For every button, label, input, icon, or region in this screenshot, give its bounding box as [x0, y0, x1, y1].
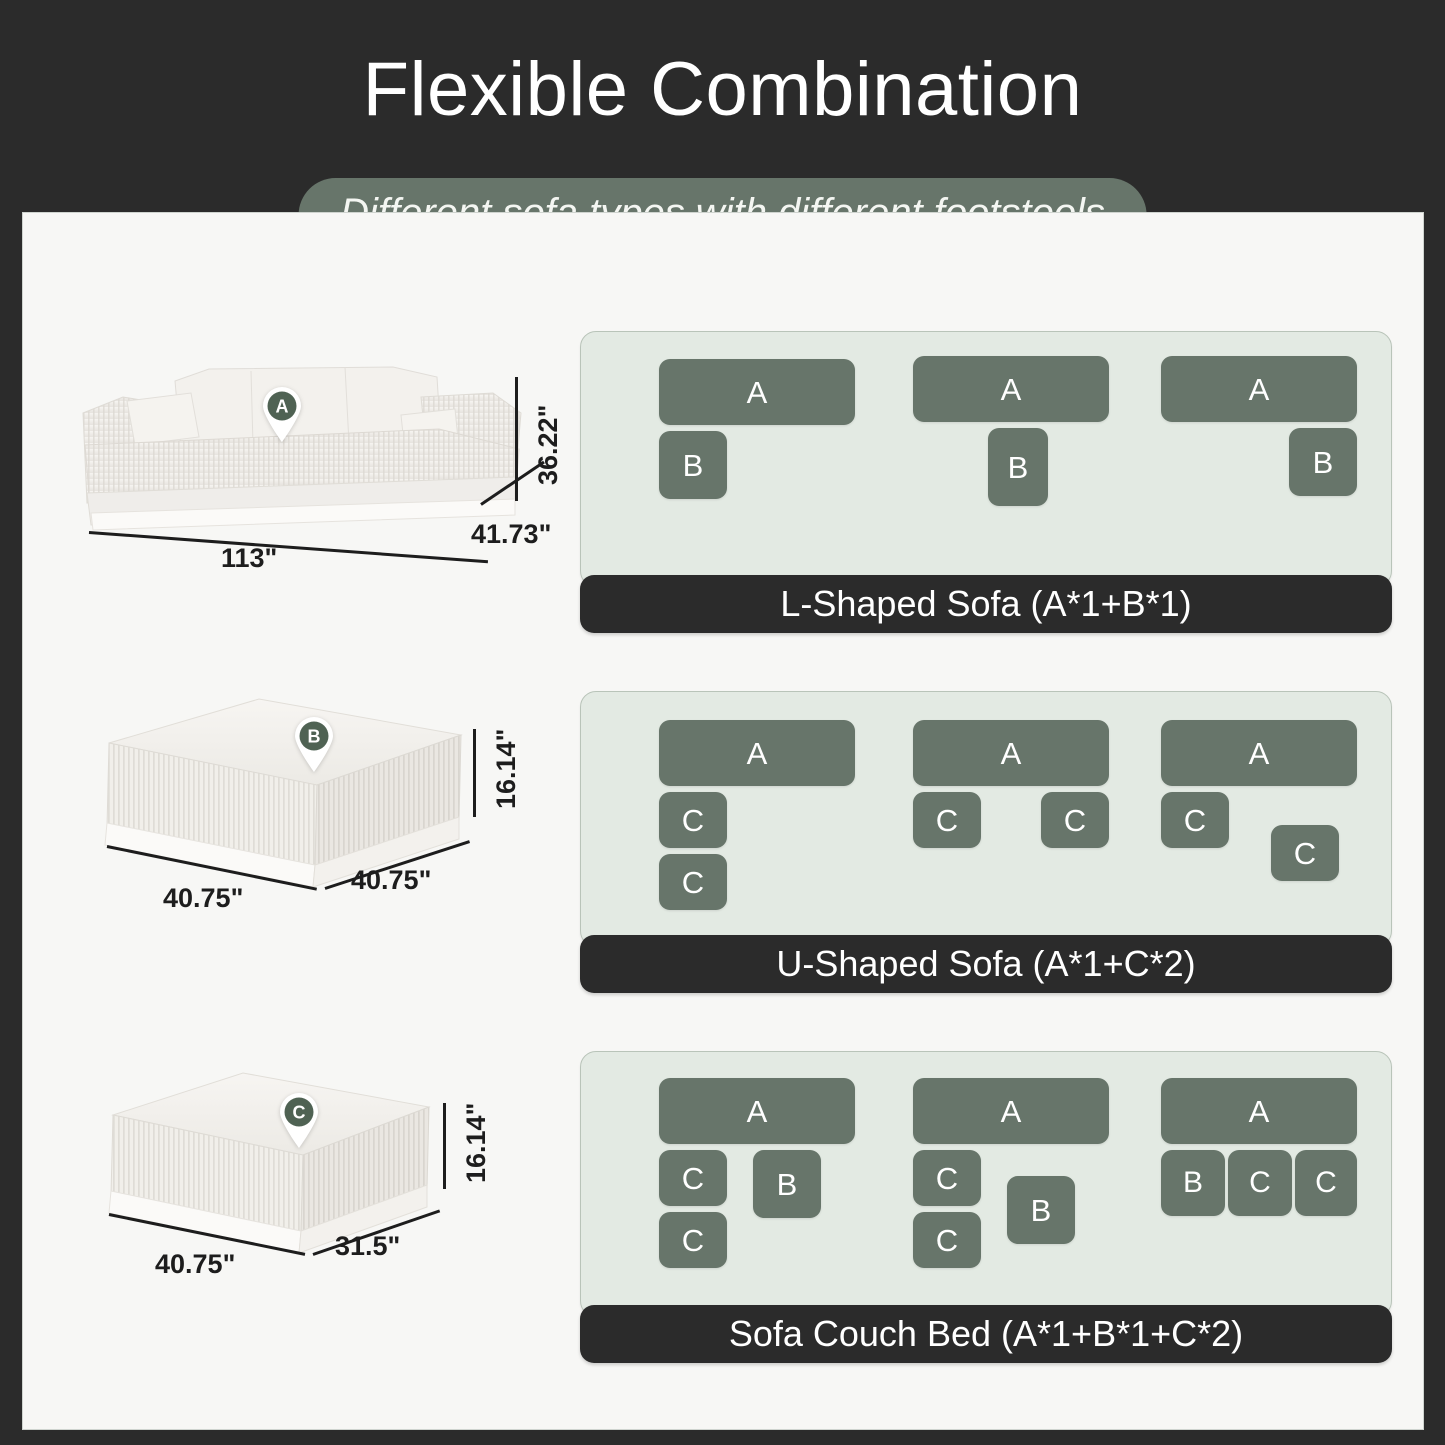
pin-badge-a: A [259, 385, 305, 443]
panel-sofa-couch-bed-caption-bar: Sofa Couch Bed (A*1+B*1+C*2) [580, 1305, 1392, 1363]
dim-rule-height-b [473, 729, 476, 817]
panel-sofa-couch-bed-body: A C C B A C C B A B C C [580, 1051, 1392, 1317]
svg-text:A: A [276, 397, 289, 417]
product-a-illustration: A 113" 41.73" 36.22" [63, 353, 573, 583]
block-c: C [913, 1212, 981, 1268]
block-c: C [913, 1150, 981, 1206]
dim-width-c: 40.75" [155, 1249, 235, 1280]
product-b-illustration: B 40.75" 40.75" 16.14" [63, 693, 573, 933]
block-c: C [913, 792, 981, 848]
panel-u-shaped-body: A C C A C C A C C [580, 691, 1392, 947]
dim-height-b: 16.14" [491, 729, 522, 809]
block-b: B [753, 1150, 821, 1218]
block-c: C [659, 1212, 727, 1268]
panel-sofa-couch-bed: A C C B A C C B A B C C [580, 1051, 1392, 1363]
panel-l-shaped-body: A B A B A B [580, 331, 1392, 587]
block-c: C [1295, 1150, 1357, 1216]
variant-l-2: A B [895, 332, 1127, 586]
variant-bed-1: A C C B [641, 1052, 873, 1316]
block-b: B [659, 431, 727, 499]
dim-height-c: 16.14" [461, 1103, 492, 1183]
dim-depth-b: 40.75" [351, 865, 431, 896]
block-c: C [659, 1150, 727, 1206]
block-a: A [913, 356, 1109, 422]
pin-badge-b: B [291, 715, 337, 773]
block-c: C [659, 854, 727, 910]
panel-l-shaped-caption: L-Shaped Sofa (A*1+B*1) [780, 586, 1191, 622]
dim-height-a: 36.22" [533, 405, 564, 485]
block-a: A [659, 1078, 855, 1144]
variant-bed-3: A B C C [1143, 1052, 1375, 1316]
block-a: A [1161, 1078, 1357, 1144]
block-b: B [1161, 1150, 1225, 1216]
dim-width-b: 40.75" [163, 883, 243, 914]
block-a: A [913, 720, 1109, 786]
block-b: B [1289, 428, 1357, 496]
pin-badge-c: C [276, 1091, 322, 1149]
variant-u-2: A C C [895, 692, 1127, 946]
variant-u-3: A C C [1143, 692, 1375, 946]
variant-bed-2: A C C B [895, 1052, 1127, 1316]
panel-sofa-couch-bed-caption: Sofa Couch Bed (A*1+B*1+C*2) [729, 1316, 1243, 1352]
variant-l-3: A B [1143, 332, 1375, 586]
dim-rule-height-a [515, 377, 518, 501]
panel-l-shaped: A B A B A B L-Shaped Sofa (A*1+B*1) [580, 331, 1392, 633]
product-c-illustration: C 40.75" 31.5" 16.14" [63, 1063, 573, 1313]
variant-l-1: A B [641, 332, 873, 586]
block-c: C [1041, 792, 1109, 848]
dim-rule-height-c [443, 1103, 446, 1189]
block-c: C [1161, 792, 1229, 848]
dim-depth-a: 41.73" [471, 519, 551, 550]
block-a: A [913, 1078, 1109, 1144]
block-c: C [1271, 825, 1339, 881]
panel-l-shaped-caption-bar: L-Shaped Sofa (A*1+B*1) [580, 575, 1392, 633]
block-a: A [659, 359, 855, 425]
panel-u-shaped: A C C A C C A C C U-Shaped Sofa (A*1+C*2… [580, 691, 1392, 993]
variant-u-1: A C C [641, 692, 873, 946]
block-c: C [659, 792, 727, 848]
block-a: A [1161, 720, 1357, 786]
page-title: Flexible Combination [0, 52, 1445, 128]
dim-depth-c: 31.5" [335, 1231, 400, 1262]
panel-u-shaped-caption: U-Shaped Sofa (A*1+C*2) [776, 946, 1195, 982]
block-b: B [988, 428, 1048, 506]
content-canvas: A 113" 41.73" 36.22" [22, 212, 1424, 1430]
dim-width-a: 113" [221, 543, 277, 574]
block-c: C [1228, 1150, 1292, 1216]
panel-u-shaped-caption-bar: U-Shaped Sofa (A*1+C*2) [580, 935, 1392, 993]
svg-text:B: B [308, 727, 321, 747]
poster-frame: Flexible Combination Different sofa type… [0, 0, 1445, 1445]
block-b: B [1007, 1176, 1075, 1244]
svg-text:C: C [293, 1103, 306, 1123]
block-a: A [659, 720, 855, 786]
block-a: A [1161, 356, 1357, 422]
